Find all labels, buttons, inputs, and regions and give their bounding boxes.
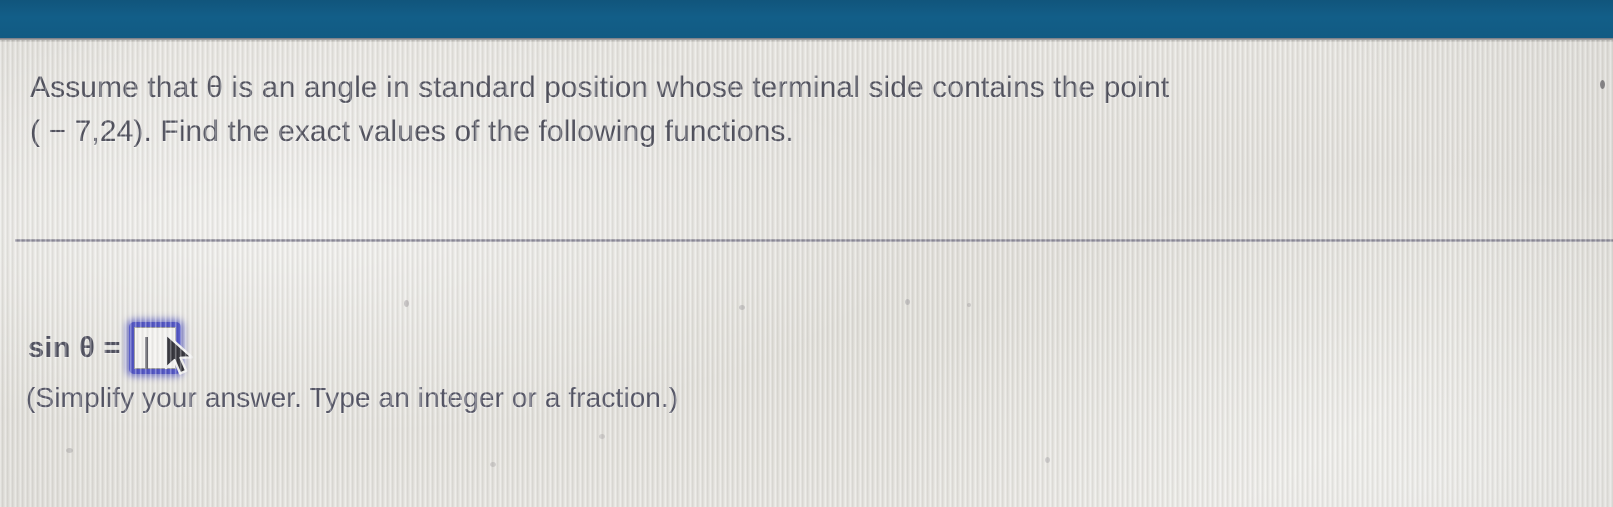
top-bar-bottom-edge [0,38,1613,42]
answer-hint: (Simplify your answer. Type an integer o… [26,382,678,414]
question-line-2: ( − 7,24). Find the exact values of the … [30,110,1410,154]
question-line-1: Assume that θ is an angle in standard po… [30,66,1410,110]
answer-input-container[interactable] [129,322,181,374]
section-divider [15,239,1613,242]
question-prompt: Assume that θ is an angle in standard po… [30,66,1410,154]
text-caret [145,337,148,369]
answer-input[interactable] [134,327,176,369]
problem-screenshot: Assume that θ is an angle in standard po… [0,0,1613,507]
answer-row: sin θ = [28,320,181,376]
app-top-bar [0,0,1613,38]
answer-label: sin θ = [28,332,121,365]
